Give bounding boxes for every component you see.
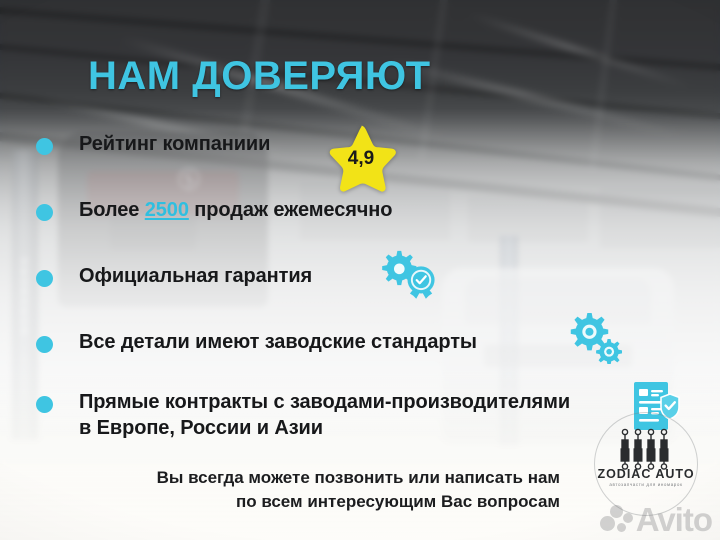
contracts-line-1: Прямые контракты с заводами-производител… [79, 391, 570, 413]
rating-value: 4,9 [325, 148, 397, 170]
bullet-dot-icon [36, 204, 53, 221]
avito-watermark: Avito [600, 503, 712, 536]
bullet-dot-icon [36, 270, 53, 287]
avito-dots-icon [600, 505, 634, 535]
star-rating-badge: 4,9 [325, 123, 397, 193]
list-item-sales: Более 2500 продаж ежемесячно [36, 198, 696, 228]
bullet-dot-icon [36, 138, 53, 155]
bullet-dot-icon [36, 336, 53, 353]
list-item-label: Рейтинг компаниии [79, 132, 270, 158]
footer-line-1: Вы всегда можете позвонить или написать … [40, 466, 560, 490]
promo-slide: NORDBERG automotive НАМ ДОВЕРЯЮТ Рейтинг… [0, 0, 720, 540]
logo-name: ZODIAC AUTO [594, 467, 698, 481]
avito-wordmark: Avito [636, 503, 712, 536]
page-title: НАМ ДОВЕРЯЮТ [88, 54, 431, 99]
footer-contact-text: Вы всегда можете позвонить или написать … [40, 466, 560, 514]
list-item-label: Все детали имеют заводские стандарты [79, 330, 477, 356]
logo-tagline: автозапчасти для иномарок [594, 482, 698, 487]
list-item-label: Официальная гарантия [79, 264, 312, 290]
gear-award-icon [377, 249, 439, 307]
contracts-line-2: в Европе, России и Азии [79, 417, 323, 439]
sales-count-highlight: 2500 [145, 199, 189, 221]
list-item-label: Прямые контракты с заводами-производител… [79, 390, 570, 441]
bullet-dot-icon [36, 396, 53, 413]
sales-text-after: продаж ежемесячно [189, 199, 393, 221]
gears-icon [568, 312, 624, 364]
list-item-label: Более 2500 продаж ежемесячно [79, 198, 392, 224]
slide-content: НАМ ДОВЕРЯЮТ Рейтинг компаниии Более 250… [0, 0, 720, 540]
list-item-warranty: Официальная гарантия [36, 264, 696, 294]
footer-line-2: по всем интересующим Вас вопросам [40, 490, 560, 514]
sales-text-before: Более [79, 199, 145, 221]
